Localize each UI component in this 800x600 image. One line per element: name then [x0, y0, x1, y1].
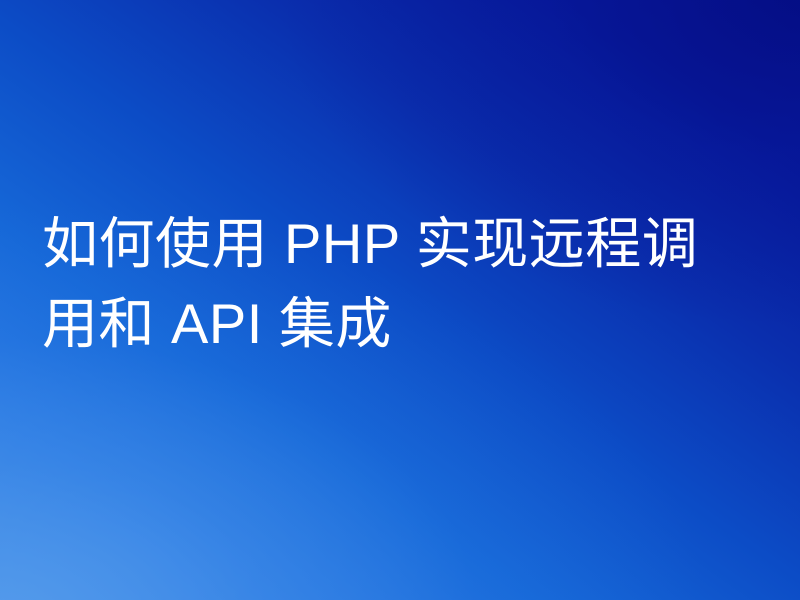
title-card-banner: 如何使用 PHP 实现远程调用和 API 集成 — [0, 0, 800, 600]
page-title: 如何使用 PHP 实现远程调用和 API 集成 — [42, 204, 722, 364]
title-container: 如何使用 PHP 实现远程调用和 API 集成 — [42, 204, 722, 364]
